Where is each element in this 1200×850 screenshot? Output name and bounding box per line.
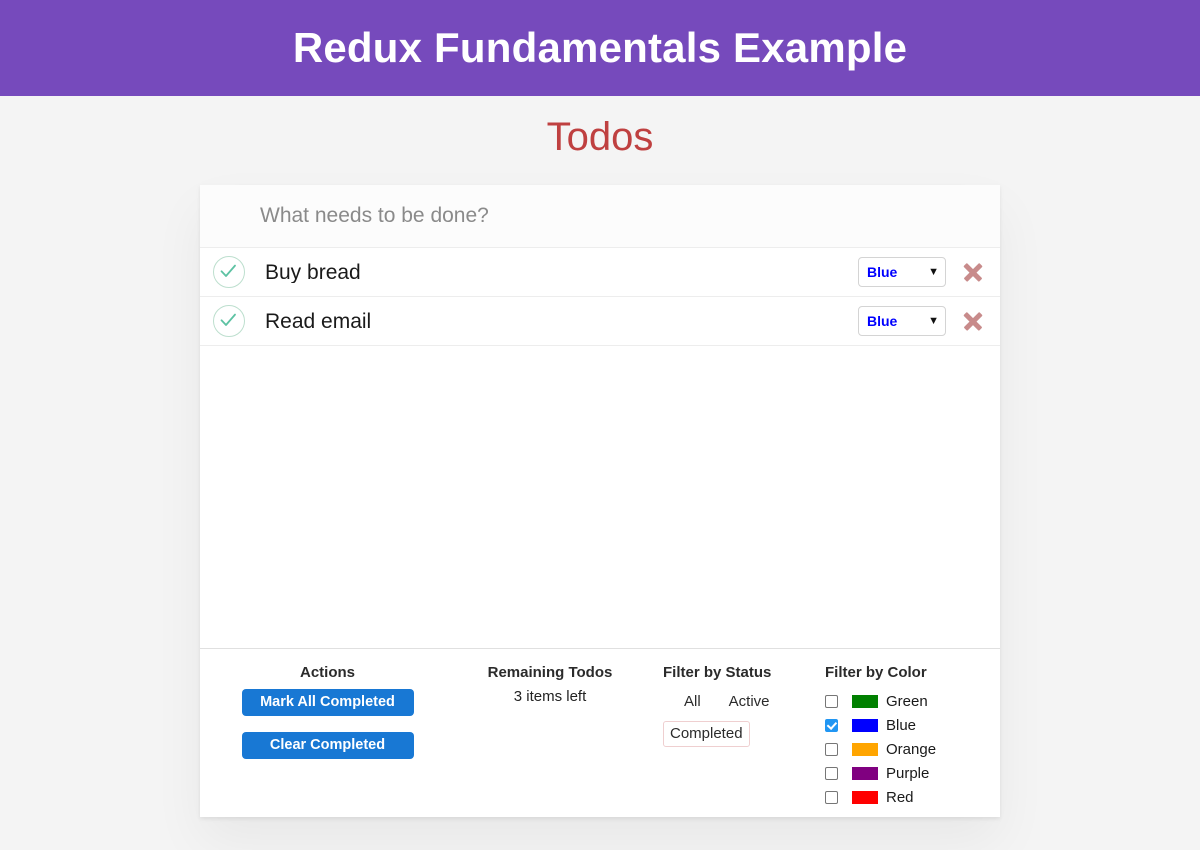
color-swatch: [852, 695, 878, 708]
new-todo-input[interactable]: [200, 204, 1000, 228]
status-filter-option-all[interactable]: All: [677, 689, 708, 714]
new-todo-row: [200, 185, 1000, 248]
status-filter-title: Filter by Status: [663, 665, 825, 680]
todo-item-view: Read emailBlue▼: [200, 305, 1000, 337]
color-filter-option-purple[interactable]: Purple: [825, 761, 1000, 785]
todo-list: Buy breadBlue▼Read emailBlue▼: [200, 248, 1000, 648]
color-filter-label: Purple: [886, 766, 929, 781]
color-filter-option-red[interactable]: Red: [825, 785, 1000, 809]
color-filter-label: Red: [886, 790, 914, 805]
remaining-todos-count: 3 items left: [455, 689, 645, 704]
color-swatch: [852, 743, 878, 756]
actions-column: Actions Mark All Completed Clear Complet…: [200, 665, 455, 817]
todo-toggle-checkbox[interactable]: [213, 256, 245, 288]
check-icon: [214, 306, 242, 334]
app-header: Redux Fundamentals Example: [0, 0, 1200, 96]
page-title: Todos: [0, 96, 1200, 157]
color-filter-label: Orange: [886, 742, 936, 757]
color-filter-label: Blue: [886, 718, 916, 733]
color-filter-option-blue[interactable]: Blue: [825, 713, 1000, 737]
todo-item: Read emailBlue▼: [200, 297, 1000, 346]
status-filter-list: AllActiveCompleted: [663, 689, 825, 754]
color-swatch: [852, 791, 878, 804]
todo-toggle-checkbox[interactable]: [213, 305, 245, 337]
app-title: Redux Fundamentals Example: [293, 27, 907, 69]
todo-delete-button[interactable]: [960, 308, 986, 334]
color-filter-checkbox[interactable]: [825, 743, 838, 756]
todo-item-view: Buy breadBlue▼: [200, 256, 1000, 288]
color-swatch: [852, 767, 878, 780]
color-filter-checkbox[interactable]: [825, 719, 838, 732]
color-filter-checkbox[interactable]: [825, 791, 838, 804]
remaining-todos-title: Remaining Todos: [455, 665, 645, 680]
status-filter-option-completed[interactable]: Completed: [663, 721, 750, 746]
todo-app-panel: Buy breadBlue▼Read emailBlue▼ Actions Ma…: [200, 185, 1000, 817]
clear-completed-button[interactable]: Clear Completed: [242, 732, 414, 759]
color-filter-column: Filter by Color GreenBlueOrangePurpleRed: [825, 665, 1000, 817]
color-swatch: [852, 719, 878, 732]
todo-item-label: Buy bread: [245, 262, 858, 283]
color-filter-option-orange[interactable]: Orange: [825, 737, 1000, 761]
todo-item-label: Read email: [245, 311, 858, 332]
todo-item: Buy breadBlue▼: [200, 248, 1000, 297]
color-filter-checkbox[interactable]: [825, 767, 838, 780]
status-filter-column: Filter by Status AllActiveCompleted: [645, 665, 825, 817]
status-filter-option-active[interactable]: Active: [722, 689, 777, 714]
remaining-todos-column: Remaining Todos 3 items left: [455, 665, 645, 817]
color-filter-title: Filter by Color: [825, 665, 1000, 680]
actions-title: Actions: [200, 665, 455, 680]
color-filter-label: Green: [886, 694, 928, 709]
chevron-down-icon: ▼: [928, 267, 939, 278]
color-filter-list: GreenBlueOrangePurpleRed: [825, 689, 1000, 809]
mark-all-completed-button[interactable]: Mark All Completed: [242, 689, 414, 716]
chevron-down-icon: ▼: [928, 316, 939, 327]
todo-footer: Actions Mark All Completed Clear Complet…: [200, 648, 1000, 817]
check-icon: [214, 257, 242, 285]
todo-color-select[interactable]: Blue▼: [858, 257, 946, 287]
todo-color-value: Blue: [867, 313, 897, 329]
color-filter-checkbox[interactable]: [825, 695, 838, 708]
todo-delete-button[interactable]: [960, 259, 986, 285]
todo-color-select[interactable]: Blue▼: [858, 306, 946, 336]
todo-color-value: Blue: [867, 264, 897, 280]
color-filter-option-green[interactable]: Green: [825, 689, 1000, 713]
